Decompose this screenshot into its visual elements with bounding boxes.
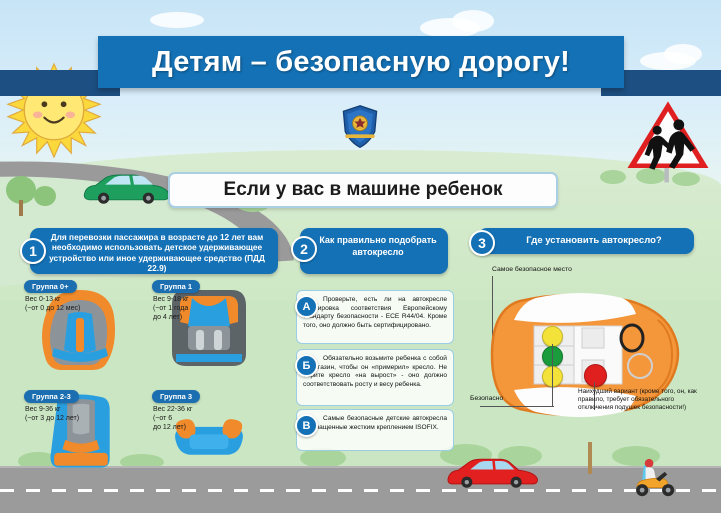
seat-group-3-weight: Вес 22-36 кг	[153, 406, 192, 415]
seat-group-3-badge: Группа 3	[152, 390, 200, 403]
seat-group-2-3-weight: Вес 9-36 кг	[25, 406, 61, 415]
seat-group-0plus-weight: Вес 0-13 кг	[25, 296, 61, 305]
tip-c-text: Самые безопасные детские автокресла – ос…	[297, 410, 453, 437]
section-3-number: 3	[469, 230, 495, 256]
tip-c-letter: В	[295, 414, 318, 437]
section-1-heading-text: Для перевозки пассажира в возрасте до 12…	[30, 228, 278, 274]
tree-crown-2	[34, 186, 56, 206]
seat-group-3: Группа 3 Вес 22-36 кг (~от 6 до 12 лет)	[146, 388, 272, 483]
seat-group-1-age: (~от 1 года до 4 лет)	[153, 305, 188, 322]
seat-group-2-3-age: (~от 3 до 12 лет)	[25, 415, 79, 424]
front-passenger-seat-dot	[584, 364, 607, 387]
green-car	[78, 170, 174, 204]
label-worst: Наихудший вариант (кроме того, он, как п…	[578, 388, 710, 412]
seat-group-2-3: Группа 2-3 Вес 9-36 кг (~от 3 до 12 лет)	[18, 388, 144, 483]
seat-group-1-weight: Вес 9-18 кг	[153, 296, 189, 305]
tip-a: А Проверьте, есть ли на автокресле марки…	[296, 290, 454, 344]
cloud-5	[150, 12, 204, 28]
scooter-rider	[630, 458, 682, 498]
section-1-header: Для перевозки пассажира в возрасте до 12…	[30, 228, 278, 274]
tip-b-letter: Б	[295, 354, 318, 377]
seat-group-0plus-badge: Группа 0+	[24, 280, 77, 293]
seat-group-0plus: Группа 0+ Вес 0-13 кг (~от 0 до 12 мес)	[18, 278, 144, 373]
tip-c: В Самые безопасные детские автокресла – …	[296, 409, 454, 451]
red-car	[440, 455, 548, 489]
tip-a-letter: А	[295, 295, 318, 318]
leader-safe-v	[552, 344, 553, 406]
seat-group-3-age: (~от 6 до 12 лет)	[153, 415, 186, 432]
gibdd-emblem	[332, 104, 388, 150]
section-2-header: Как правильно подобрать автокресло	[300, 228, 448, 274]
car-seat-placement-diagram: Самое безопасное место Безопасно	[462, 262, 712, 452]
section-2-number: 2	[291, 236, 317, 262]
label-safe: Безопасно	[470, 395, 503, 402]
seat-group-2-3-badge: Группа 2-3	[24, 390, 79, 403]
section-3-heading-text: Где установить автокресло?	[478, 228, 694, 254]
poster-title-text: Детям – безопасную дорогу!	[152, 46, 570, 79]
tip-b: Б Обязательно возьмите ребенка с собой в…	[296, 349, 454, 406]
bottom-road-marking	[0, 489, 721, 492]
seat-group-1-badge: Группа 1	[152, 280, 200, 293]
seat-group-1: Группа 1 Вес 9-18 кг (~от 1 года до 4 ле…	[146, 278, 272, 373]
section-2-heading-text: Как правильно подобрать автокресло	[300, 228, 448, 258]
poster-subtitle-text: Если у вас в машине ребенок	[224, 179, 503, 201]
label-safest-place: Самое безопасное место	[492, 266, 572, 273]
poster-subtitle: Если у вас в машине ребенок	[168, 172, 558, 208]
cloud-2	[452, 10, 494, 32]
infographic-poster: Детям – безопасную дорогу! Если у вас в …	[0, 0, 721, 513]
tree-trunk-1	[19, 200, 23, 216]
section-3-header: Где установить автокресло?	[478, 228, 694, 254]
tip-a-text: Проверьте, есть ли на автокресле маркиро…	[297, 291, 453, 335]
seat-groups-panel: Группа 0+ Вес 0-13 кг (~от 0 до 12 мес) …	[18, 278, 280, 473]
tip-b-text: Обязательно возьмите ребенка с собой в м…	[297, 350, 453, 394]
leader-safe-h	[480, 406, 554, 407]
poster-title: Детям – безопасную дорогу!	[98, 36, 624, 88]
section-1-number: 1	[20, 238, 46, 264]
children-crossing-warning-sign	[622, 96, 714, 186]
cloud-4	[664, 44, 702, 64]
seat-group-0plus-age: (~от 0 до 12 мес)	[25, 305, 80, 314]
bush-5	[300, 448, 346, 468]
